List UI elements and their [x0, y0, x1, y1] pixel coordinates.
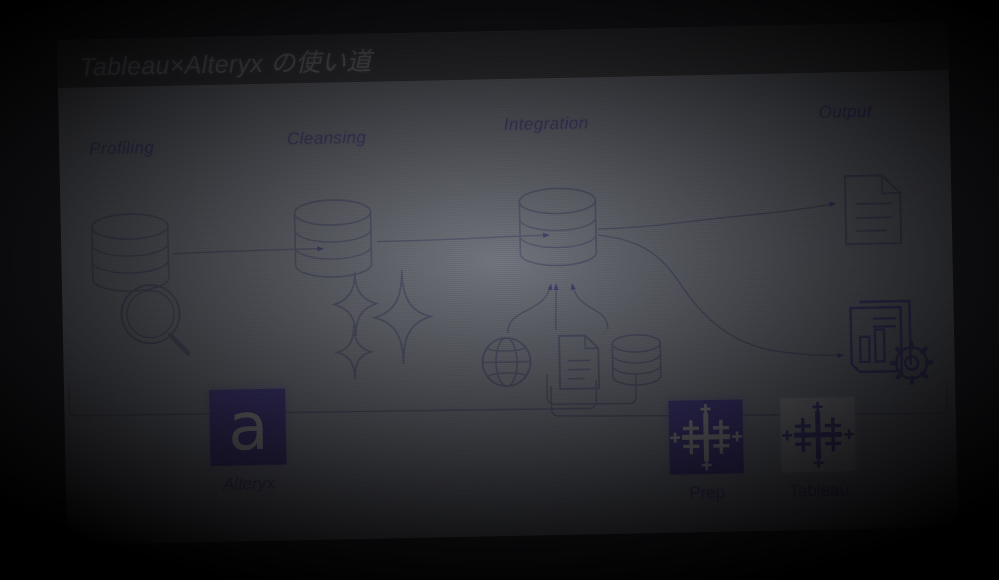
integration-source-connectors: [507, 283, 608, 333]
presentation-slide: Tableau×Alteryx の使い道 11: [57, 22, 958, 545]
scope-bracket-alteryx: [69, 377, 597, 437]
globe-icon: [482, 338, 531, 387]
tableau-logo: [780, 397, 855, 472]
database-magnifier-icon: [92, 213, 189, 355]
database-merge-icon: [519, 188, 597, 267]
stage-label-profiling: Profiling: [89, 138, 154, 159]
tableau-prep-logo: [668, 399, 743, 474]
report-gear-icon: [850, 301, 932, 385]
document-icon: [559, 335, 599, 389]
tool-label-alteryx: Alteryx: [194, 473, 304, 495]
database-sparkles-icon: [294, 198, 432, 380]
stage-label-output: Output: [818, 102, 872, 123]
stage-label-integration: Integration: [504, 113, 589, 135]
tool-prep: Prep: [652, 399, 760, 504]
audience-silhouette-shoulder: [0, 540, 110, 580]
projected-slide-photo: Tableau×Alteryx の使い道 11: [0, 0, 999, 580]
slide-title: Tableau×Alteryx の使い道: [79, 42, 372, 84]
audience-silhouette-hair: [0, 466, 62, 532]
audience-silhouette-head: [0, 478, 68, 580]
tool-alteryx: a Alteryx: [192, 388, 304, 495]
tool-tableau: Tableau: [764, 397, 872, 502]
slide-number: 11: [887, 22, 926, 28]
output-document-icon: [845, 175, 901, 244]
pipeline-flow-arrows: [173, 203, 844, 368]
tool-label-tableau: Tableau: [766, 480, 872, 502]
alteryx-logo: a: [209, 388, 287, 466]
stage-label-cleansing: Cleansing: [287, 128, 367, 150]
tool-label-prep: Prep: [654, 482, 760, 504]
alteryx-logo-glyph: a: [209, 399, 286, 455]
